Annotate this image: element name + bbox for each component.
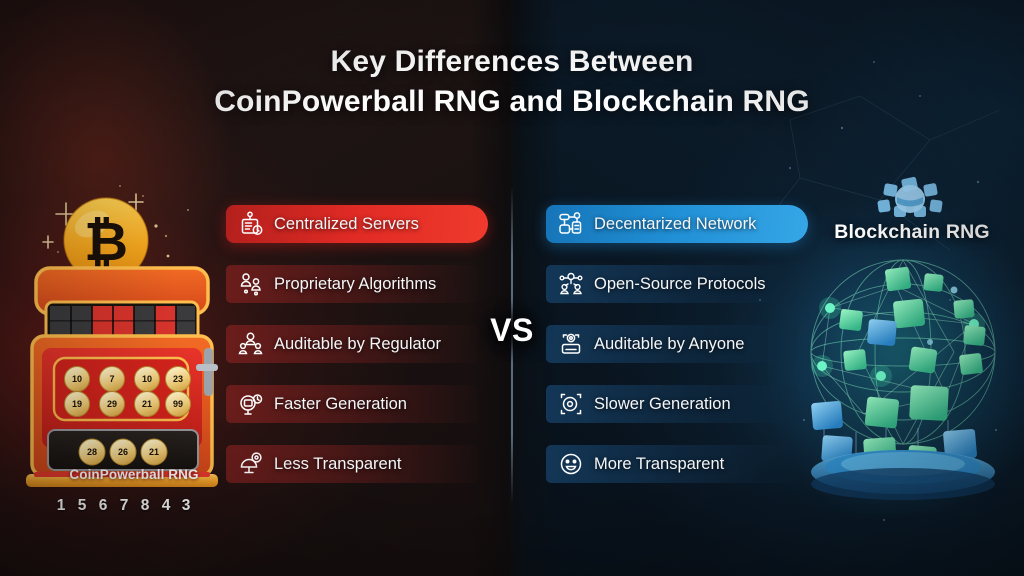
- reel-digit: 8: [134, 497, 156, 515]
- reel-digit: 6: [92, 497, 114, 515]
- reel-digit: 4: [155, 497, 177, 515]
- vs-label: VS: [472, 312, 552, 349]
- slot-machine-brand-label: CoinPowerball RNG: [48, 467, 220, 482]
- right-feature-row-decentarized-network[interactable]: Decentarized Network: [546, 205, 808, 243]
- right-feature-row-auditable-by-anyone[interactable]: Auditable by Anyone: [546, 325, 798, 363]
- left-feature-row-centralized-servers[interactable]: Centralized Servers: [226, 205, 488, 243]
- left-feature-row-auditable-by-regulator[interactable]: Auditable by Regulator: [226, 325, 478, 363]
- blockchain-cluster-icon: [868, 176, 952, 222]
- reel-digit: 7: [113, 497, 135, 515]
- right-feature-label: More Transparent: [594, 455, 724, 474]
- blockchain-brand-label: Blockchain RNG: [800, 221, 1024, 244]
- left-feature-label: Auditable by Regulator: [274, 335, 441, 354]
- speed-gauge-icon: [238, 391, 264, 417]
- left-feature-label: Less Transparent: [274, 455, 402, 474]
- lottery-ball-number: 29: [101, 399, 123, 409]
- svg-text:₿: ₿: [84, 212, 128, 272]
- tray-ball-number: 28: [81, 447, 103, 457]
- left-feature-row-proprietary-algorithms[interactable]: Proprietary Algorithms: [226, 265, 478, 303]
- right-feature-label: Slower Generation: [594, 395, 731, 414]
- reel-digit: 3: [175, 497, 197, 515]
- left-feature-label: Proprietary Algorithms: [274, 275, 436, 294]
- lottery-ball-number: 23: [167, 374, 189, 384]
- slow-cycle-icon: [558, 391, 584, 417]
- page-title: Key Differences Between CoinPowerball RN…: [0, 42, 1024, 121]
- public-audit-icon: [558, 331, 584, 357]
- right-feature-list: Decentarized Network Open-Source Protoco…: [546, 205, 810, 505]
- reel-digit: 1: [50, 497, 72, 515]
- users-audit-icon: [238, 331, 264, 357]
- title-line-2: CoinPowerball RNG and Blockchain RNG: [0, 82, 1024, 122]
- infographic-canvas: Key Differences Between CoinPowerball RN…: [0, 0, 1024, 576]
- lottery-ball-number: 10: [66, 374, 88, 384]
- lottery-ball-number: 21: [136, 399, 158, 409]
- reel-digit: 5: [71, 497, 93, 515]
- hidden-eye-icon: [238, 451, 264, 477]
- network-nodes-icon: [558, 211, 584, 237]
- right-feature-label: Auditable by Anyone: [594, 335, 744, 354]
- right-feature-row-open-source-protocols[interactable]: Open-Source Protocols: [546, 265, 798, 303]
- blockchain-globe-illustration[interactable]: [778, 246, 1024, 504]
- left-feature-label: Faster Generation: [274, 395, 407, 414]
- lottery-ball-number: 10: [136, 374, 158, 384]
- right-feature-label: Decentarized Network: [594, 215, 756, 234]
- tray-ball-number: 26: [112, 447, 134, 457]
- smiley-open-icon: [558, 451, 584, 477]
- open-network-icon: [558, 271, 584, 297]
- right-feature-row-slower-generation[interactable]: Slower Generation: [546, 385, 798, 423]
- users-group-icon: [238, 271, 264, 297]
- lottery-ball-number: 99: [167, 399, 189, 409]
- left-feature-list: Centralized Servers Proprietary Algorith…: [226, 205, 490, 505]
- slot-machine-illustration[interactable]: ₿: [18, 186, 230, 496]
- left-feature-row-less-transparent[interactable]: Less Transparent: [226, 445, 478, 483]
- left-feature-label: Centralized Servers: [274, 215, 419, 234]
- lottery-ball-number: 19: [66, 399, 88, 409]
- server-rack-icon: [238, 211, 264, 237]
- title-line-1: Key Differences Between: [330, 45, 693, 78]
- lottery-ball-number: 7: [101, 374, 123, 384]
- left-feature-row-faster-generation[interactable]: Faster Generation: [226, 385, 478, 423]
- right-feature-label: Open-Source Protocols: [594, 275, 766, 294]
- right-feature-row-more-transparent[interactable]: More Transparent: [546, 445, 798, 483]
- tray-ball-number: 21: [143, 447, 165, 457]
